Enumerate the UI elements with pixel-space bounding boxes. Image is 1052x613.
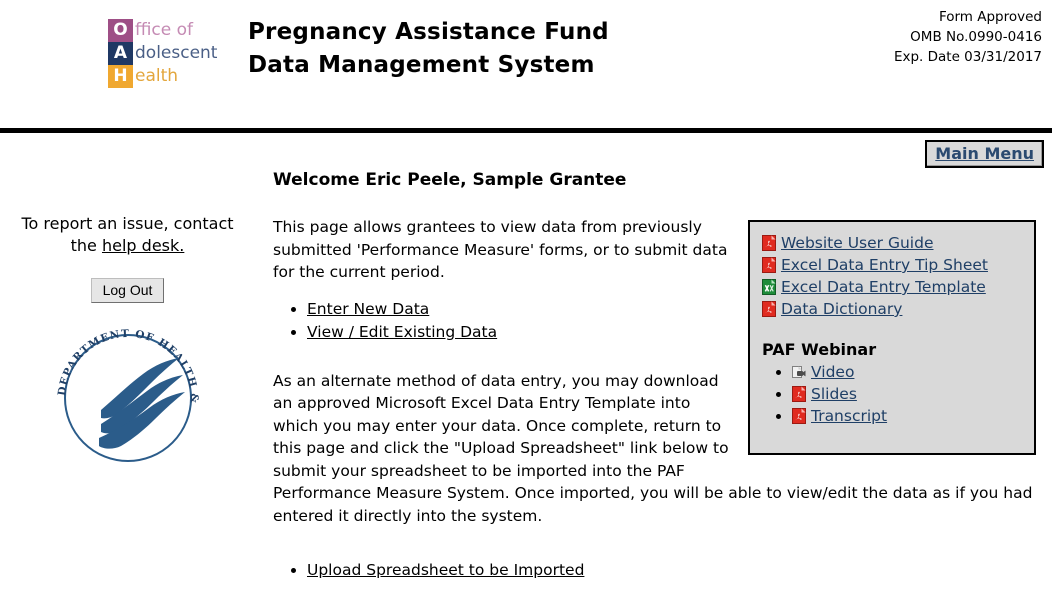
omb-approval-block: Form Approved OMB No.0990-0416 Exp. Date… [894, 7, 1042, 67]
webinar-transcript-link[interactable]: Transcript [811, 407, 887, 425]
svg-text:DEPARTMENT OF HEALTH & HUMAN S: DEPARTMENT OF HEALTH & HUMAN SERVICES · … [43, 318, 200, 404]
logo-word-adolescent: dolescent [133, 42, 217, 65]
list-item: Video [792, 361, 1024, 383]
welcome-heading: Welcome Eric Peele, Sample Grantee [273, 169, 1042, 191]
list-item: Excel Data Entry Template [762, 276, 1024, 298]
video-icon [792, 364, 806, 380]
resources-panel: Website User Guide Excel Data Entry Tip … [748, 220, 1036, 455]
help-desk-text: To report an issue, contact the help des… [0, 213, 255, 257]
upload-links: Upload Spreadsheet to be Imported [273, 559, 1042, 582]
main-column: Website User Guide Excel Data Entry Tip … [262, 169, 1042, 583]
list-item: Upload Spreadsheet to be Imported [307, 559, 1042, 582]
list-item: Slides [792, 383, 1024, 405]
omb-number-text: OMB No.0990-0416 [894, 27, 1042, 47]
pdf-icon [762, 235, 776, 251]
omb-expiration-text: Exp. Date 03/31/2017 [894, 47, 1042, 67]
pdf-icon [762, 301, 776, 317]
excel-template-link[interactable]: Excel Data Entry Template [781, 278, 986, 296]
pdf-icon [792, 386, 806, 402]
list-item: Transcript [792, 405, 1024, 427]
excel-icon [762, 279, 776, 295]
enter-new-data-link[interactable]: Enter New Data [307, 300, 429, 318]
webinar-links-list: Video Slides Transcript [762, 361, 1024, 427]
pdf-icon [762, 257, 776, 273]
list-item: Website User Guide [762, 232, 1024, 254]
list-item: Data Dictionary [762, 298, 1024, 320]
view-edit-existing-data-link[interactable]: View / Edit Existing Data [307, 323, 497, 341]
main-menu-button[interactable]: Main Menu [925, 140, 1044, 168]
log-out-button[interactable]: Log Out [91, 278, 165, 303]
page-content: Main Menu To report an issue, contact th… [0, 133, 1052, 613]
page-header: Office of Adolescent Health Pregnancy As… [0, 0, 1052, 113]
hhs-seal-icon: DEPARTMENT OF HEALTH & HUMAN SERVICES · … [43, 318, 213, 473]
upload-spreadsheet-link[interactable]: Upload Spreadsheet to be Imported [307, 561, 584, 579]
logout-wrap: Log Out [0, 278, 255, 303]
list-item: Excel Data Entry Tip Sheet [762, 254, 1024, 276]
logo-letter-o: O [108, 19, 133, 42]
document-links-list: Website User Guide Excel Data Entry Tip … [762, 232, 1024, 320]
logo-word-health: ealth [133, 65, 178, 88]
title-line-2: Data Management System [248, 49, 609, 82]
title-line-1: Pregnancy Assistance Fund [248, 16, 609, 49]
logo-row-office: Office of [108, 19, 238, 42]
main-menu-wrap: Main Menu [925, 140, 1044, 168]
sidebar: To report an issue, contact the help des… [0, 213, 255, 477]
logo-row-health: Health [108, 65, 238, 88]
logo-row-adolescent: Adolescent [108, 42, 238, 65]
form-approved-text: Form Approved [894, 7, 1042, 27]
logo-word-office: ffice of [133, 19, 193, 42]
pdf-icon [792, 408, 806, 424]
logo-letter-h: H [108, 65, 133, 88]
help-desk-link[interactable]: help desk. [102, 236, 184, 255]
oah-logo: Office of Adolescent Health [108, 19, 238, 89]
data-dictionary-link[interactable]: Data Dictionary [781, 300, 902, 318]
logo-letter-a: A [108, 42, 133, 65]
website-user-guide-link[interactable]: Website User Guide [781, 234, 934, 252]
webinar-video-link[interactable]: Video [811, 363, 854, 381]
paf-webinar-heading: PAF Webinar [762, 340, 1024, 359]
page-title: Pregnancy Assistance Fund Data Managemen… [248, 16, 609, 82]
excel-tip-sheet-link[interactable]: Excel Data Entry Tip Sheet [781, 256, 988, 274]
webinar-slides-link[interactable]: Slides [811, 385, 857, 403]
hhs-seal-wrap: DEPARTMENT OF HEALTH & HUMAN SERVICES · … [0, 318, 255, 477]
